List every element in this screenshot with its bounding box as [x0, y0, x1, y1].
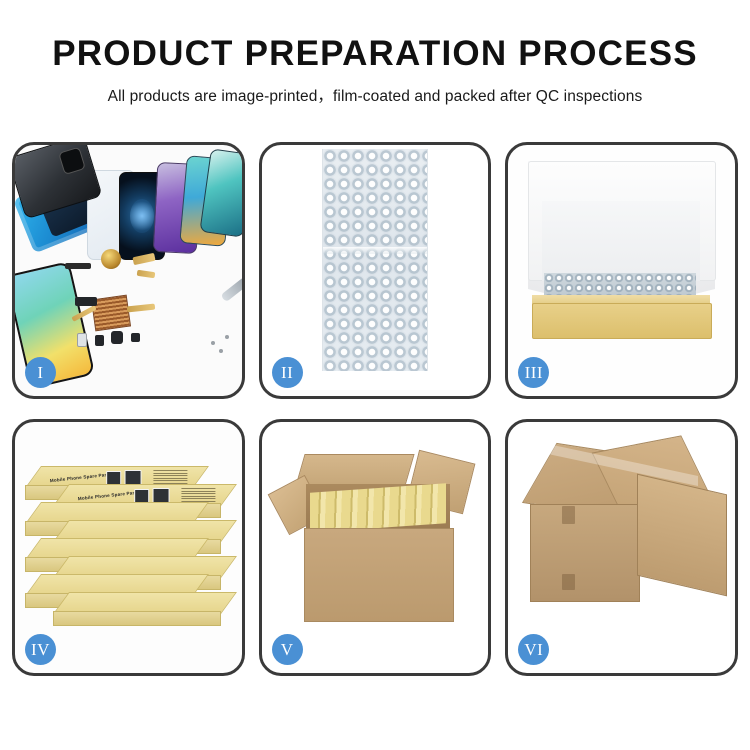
inner-box-front-panel: [532, 303, 712, 339]
header: PRODUCT PREPARATION PROCESS All products…: [0, 0, 750, 106]
carton-front-face: [304, 528, 454, 622]
retail-box-stack: Mobile Phone Spare Parts Mobile Phone Sp…: [23, 440, 233, 640]
step-panel-3-inner-box: III: [505, 142, 738, 399]
carton-flap-tab-1: [562, 506, 575, 524]
earpiece-speaker-part: [65, 263, 91, 269]
sim-tray-part: [77, 333, 87, 347]
camera-module: [111, 331, 123, 344]
step-panel-2-bubble-wrap: II: [259, 142, 492, 399]
connector-chip-1: [75, 297, 97, 306]
sealed-carton-side-face: [637, 474, 727, 597]
step-badge-2: II: [272, 357, 303, 388]
step-panel-6-sealed-carton: VI: [505, 419, 738, 676]
process-step-grid: I II III: [12, 142, 738, 676]
retail-box-front-face: [53, 611, 221, 626]
flex-cable-part-2: [137, 270, 156, 278]
screw-1: [211, 341, 215, 345]
product-preparation-infographic: PRODUCT PREPARATION PROCESS All products…: [0, 0, 750, 750]
retail-box-label: Mobile Phone Spare Parts: [78, 490, 140, 501]
inner-box-interior: [542, 201, 700, 281]
page-subtitle: All products are image-printed，film-coat…: [0, 84, 750, 106]
step-panel-5-open-carton: V: [259, 419, 492, 676]
step-panel-4-retail-box-stack: Mobile Phone Spare Parts Mobile Phone Sp…: [12, 419, 245, 676]
step-3-illustration: [508, 145, 735, 396]
retail-box-8: [53, 592, 219, 622]
tweezers-tool: [220, 277, 241, 303]
screw-2: [219, 349, 223, 353]
flex-cable-part-4: [127, 304, 155, 313]
carton-flap-tab-2: [562, 574, 575, 590]
step-badge-1: I: [25, 357, 56, 388]
step-panel-1-parts: I: [12, 142, 245, 399]
step-1-illustration: [15, 145, 242, 396]
button-component: [95, 335, 104, 346]
step-badge-4: IV: [25, 634, 56, 665]
sealed-carton-front-face: [530, 504, 640, 602]
screw-3: [225, 335, 229, 339]
bubble-wrap-pouch: [322, 149, 428, 371]
page-title: PRODUCT PREPARATION PROCESS: [0, 36, 750, 73]
step-badge-5: V: [272, 634, 303, 665]
step-6-illustration: [508, 422, 735, 673]
step-4-illustration: Mobile Phone Spare Parts Mobile Phone Sp…: [15, 422, 242, 673]
retail-box-label: Mobile Phone Spare Parts: [50, 472, 112, 483]
vibration-motor-part: [101, 249, 121, 269]
sensor-component: [131, 333, 140, 342]
